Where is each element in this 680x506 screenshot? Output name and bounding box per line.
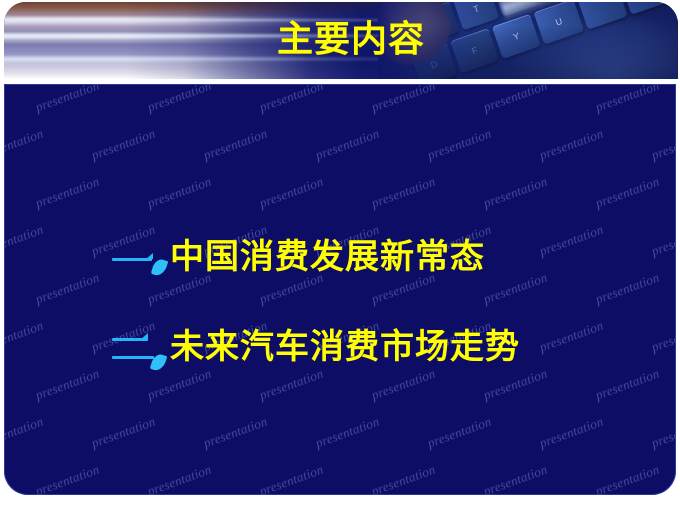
slide-body: presentationpresentationpresentationpres…: [4, 84, 676, 495]
list-item-label: 未来汽车消费市场走势: [170, 326, 520, 370]
page-title: 主要内容: [4, 16, 678, 62]
presentation-slide: 4 5 % 6 & F7 F8 F9 R T 6 7 * 8 9 D F Y: [0, 0, 680, 506]
list-item-label: 中国消费发展新常态: [170, 236, 485, 280]
list-item[interactable]: 中国消费发展新常态: [108, 236, 485, 280]
slide-header-banner: 4 5 % 6 & F7 F8 F9 R T 6 7 * 8 9 D F Y: [4, 2, 678, 79]
content-list: 中国消费发展新常态 未来汽车消费市场走势: [4, 84, 676, 495]
item-number-two-icon: [108, 326, 170, 370]
item-number-one-icon: [108, 236, 170, 280]
list-item[interactable]: 未来汽车消费市场走势: [108, 326, 520, 370]
